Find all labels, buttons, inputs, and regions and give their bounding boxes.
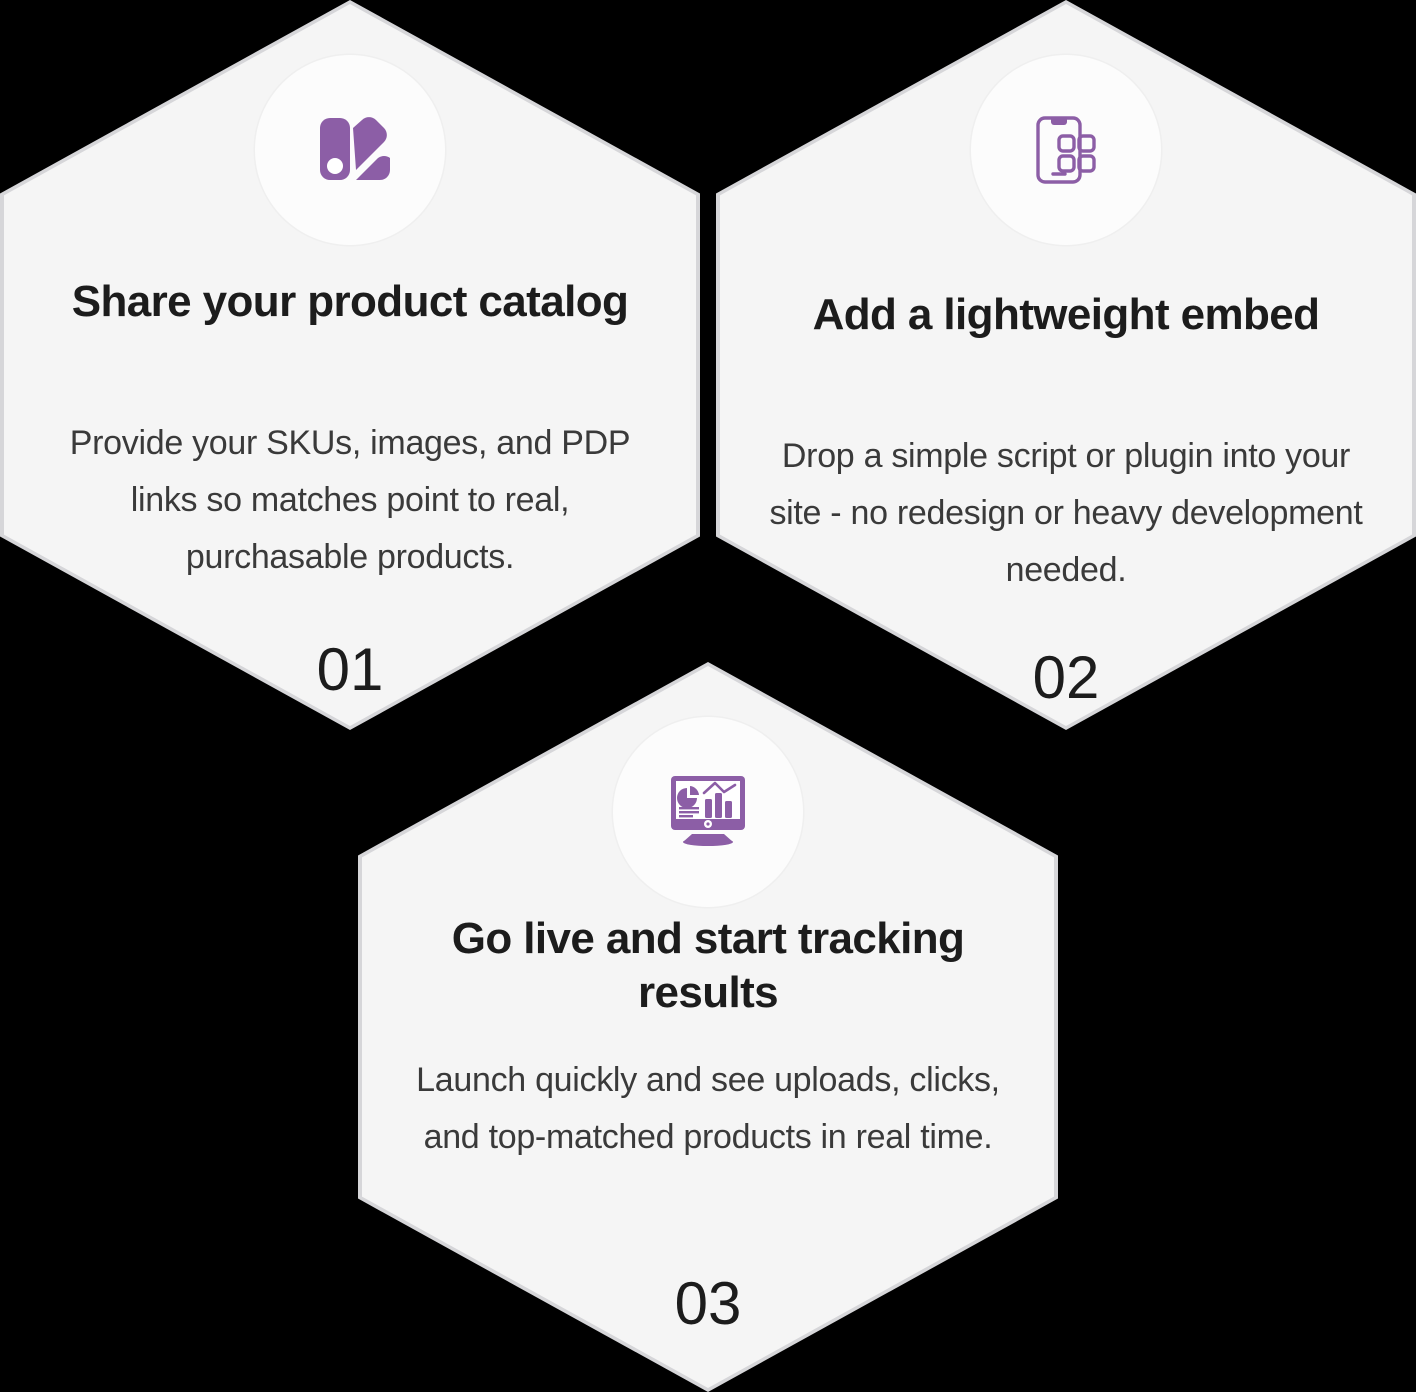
analytics-dashboard-icon <box>662 771 754 853</box>
step-card-03[interactable]: Go live and start tracking results Launc… <box>358 662 1058 1392</box>
steps-hexagon-diagram: Share your product catalog Provide your … <box>0 0 1416 1392</box>
step-card-02[interactable]: Add a lightweight embed Drop a simple sc… <box>716 0 1416 730</box>
step-description: Launch quickly and see uploads, clicks, … <box>408 1052 1008 1166</box>
step-title: Go live and start tracking results <box>428 912 988 1020</box>
step-title: Add a lightweight embed <box>786 288 1346 342</box>
step-description: Provide your SKUs, images, and PDP links… <box>50 415 650 586</box>
step-icon-bubble-02 <box>971 55 1161 245</box>
color-swatch-icon <box>304 104 396 196</box>
mobile-app-grid-icon <box>1027 111 1105 189</box>
step-number: 03 <box>675 1274 742 1334</box>
step-card-01[interactable]: Share your product catalog Provide your … <box>0 0 700 730</box>
step-icon-bubble-01 <box>255 55 445 245</box>
step-title: Share your product catalog <box>70 275 630 329</box>
step-icon-bubble-03 <box>613 717 803 907</box>
step-description: Drop a simple script or plugin into your… <box>766 428 1366 599</box>
